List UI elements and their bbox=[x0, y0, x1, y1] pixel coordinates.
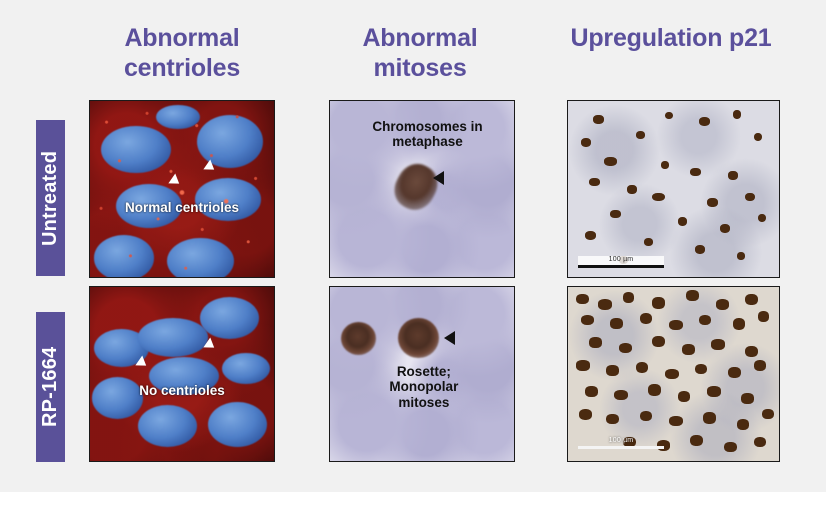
p21-positive-nucleus bbox=[754, 360, 767, 370]
p21-positive-nucleus bbox=[623, 292, 635, 302]
centriole-speckles bbox=[90, 101, 274, 277]
scale-bar-line bbox=[578, 265, 664, 268]
p21-positive-nucleus bbox=[581, 138, 592, 147]
p21-positive-nucleus bbox=[636, 362, 649, 373]
panel-annotation-chromosomes-metaphase: Chromosomes in metaphase bbox=[356, 119, 500, 150]
p21-positive-nucleus bbox=[716, 299, 730, 309]
monopolar-rosette bbox=[398, 318, 438, 358]
row-label-rp-1664: RP-1664 bbox=[36, 312, 65, 462]
micrograph-rp1664-p21: 100 µm bbox=[567, 286, 780, 462]
micrograph-image: Rosette; Monopolar mitoses bbox=[330, 287, 514, 461]
p21-positive-nucleus bbox=[745, 193, 754, 202]
p21-positive-nucleus bbox=[707, 386, 721, 396]
scale-bar-label: 100 µm bbox=[609, 437, 634, 444]
figure-slide: Abnormal centrioles Abnormal mitoses Upr… bbox=[0, 0, 826, 492]
p21-positive-nucleus bbox=[648, 384, 661, 395]
micrograph-untreated-mitoses: Chromosomes in metaphase bbox=[329, 100, 515, 278]
p21-positive-nucleus bbox=[728, 171, 737, 180]
p21-positive-nucleus bbox=[678, 217, 687, 226]
p21-positive-nucleus bbox=[610, 210, 621, 218]
p21-positive-nucleus bbox=[745, 294, 758, 305]
micrograph-image: No centrioles bbox=[90, 287, 274, 461]
p21-positive-nucleus bbox=[619, 343, 633, 353]
nucleus bbox=[138, 318, 208, 356]
ihc-background bbox=[568, 101, 779, 277]
p21-positive-nucleus bbox=[606, 365, 619, 375]
p21-positive-nucleus bbox=[665, 369, 679, 379]
p21-positive-nucleus bbox=[758, 311, 770, 321]
p21-positive-nucleus bbox=[652, 336, 665, 347]
p21-positive-nucleus bbox=[585, 386, 598, 396]
p21-positive-nucleus bbox=[606, 414, 619, 424]
monopolar-rosette bbox=[341, 322, 376, 355]
micrograph-image: Normal centrioles bbox=[90, 101, 274, 277]
p21-positive-nucleus bbox=[733, 318, 746, 329]
p21-positive-nucleus bbox=[589, 178, 600, 186]
p21-positive-nucleus bbox=[604, 157, 617, 166]
p21-positive-nucleus bbox=[707, 198, 718, 207]
p21-positive-nucleus bbox=[669, 320, 683, 330]
nucleus bbox=[208, 402, 267, 447]
p21-positive-nucleus bbox=[627, 185, 636, 194]
p21-positive-nucleus bbox=[652, 193, 665, 202]
p21-positive-nucleus bbox=[640, 411, 653, 421]
p21-positive-nucleus bbox=[728, 367, 741, 378]
p21-positive-nucleus bbox=[581, 315, 595, 325]
p21-positive-nucleus bbox=[614, 390, 628, 400]
p21-positive-nucleus bbox=[733, 110, 741, 119]
column-header-upregulation-p21: Upregulation p21 bbox=[556, 24, 786, 54]
p21-positive-nucleus bbox=[724, 442, 737, 452]
p21-positive-nucleus bbox=[589, 337, 602, 347]
p21-positive-nucleus bbox=[762, 409, 774, 419]
p21-positive-nucleus bbox=[576, 360, 590, 370]
scale-bar-label: 100 µm bbox=[609, 256, 634, 263]
p21-positive-nucleus bbox=[690, 168, 701, 176]
p21-positive-nucleus bbox=[686, 290, 699, 300]
p21-positive-nucleus bbox=[720, 224, 731, 233]
p21-positive-nucleus bbox=[737, 419, 750, 429]
p21-positive-nucleus bbox=[678, 391, 691, 401]
p21-positive-nucleus bbox=[585, 231, 597, 240]
p21-positive-nucleus bbox=[682, 344, 695, 354]
micrograph-rp1664-mitoses: Rosette; Monopolar mitoses bbox=[329, 286, 515, 462]
micrograph-rp1664-centrioles: No centrioles bbox=[89, 286, 275, 462]
p21-positive-nucleus bbox=[576, 294, 589, 304]
p21-positive-nucleus bbox=[699, 117, 711, 126]
p21-positive-nucleus bbox=[669, 416, 683, 426]
p21-positive-nucleus bbox=[661, 161, 669, 169]
panel-annotation-normal-centrioles: Normal centrioles bbox=[105, 200, 260, 216]
p21-positive-nucleus bbox=[636, 131, 645, 139]
panel-annotation-no-centrioles: No centrioles bbox=[105, 383, 260, 399]
scale-bar: 100 µm bbox=[578, 437, 664, 449]
p21-positive-nucleus bbox=[745, 346, 758, 357]
p21-positive-nucleus bbox=[695, 364, 708, 374]
mitosis-arrowhead bbox=[444, 331, 455, 345]
scale-bar: 100 µm bbox=[578, 256, 664, 268]
p21-positive-nucleus bbox=[598, 299, 613, 309]
micrograph-image: 100 µm bbox=[568, 101, 779, 277]
p21-positive-nucleus bbox=[610, 318, 623, 328]
column-header-abnormal-centrioles: Abnormal centrioles bbox=[76, 24, 288, 83]
micrograph-image: Chromosomes in metaphase bbox=[330, 101, 514, 277]
p21-positive-nucleus bbox=[690, 435, 703, 446]
scale-bar-line bbox=[578, 446, 664, 449]
panel-annotation-rosette-monopolar: Rosette; Monopolar mitoses bbox=[356, 364, 492, 411]
scale-bar-band: 100 µm bbox=[578, 256, 664, 265]
p21-positive-nucleus bbox=[711, 339, 725, 349]
p21-positive-nucleus bbox=[695, 245, 706, 254]
mitosis-arrowhead bbox=[433, 171, 444, 185]
nucleus bbox=[138, 405, 197, 447]
column-header-abnormal-mitoses: Abnormal mitoses bbox=[318, 24, 522, 83]
micrograph-untreated-centrioles: Normal centrioles bbox=[89, 100, 275, 278]
p21-positive-nucleus bbox=[593, 115, 604, 124]
row-label-untreated: Untreated bbox=[36, 120, 65, 276]
p21-positive-nucleus bbox=[741, 393, 754, 403]
p21-positive-nucleus bbox=[579, 409, 593, 420]
p21-positive-nucleus bbox=[652, 297, 665, 308]
p21-positive-nucleus bbox=[754, 437, 767, 447]
micrograph-image: 100 µm bbox=[568, 287, 779, 461]
micrograph-untreated-p21: 100 µm bbox=[567, 100, 780, 278]
p21-positive-nucleus bbox=[703, 412, 716, 423]
